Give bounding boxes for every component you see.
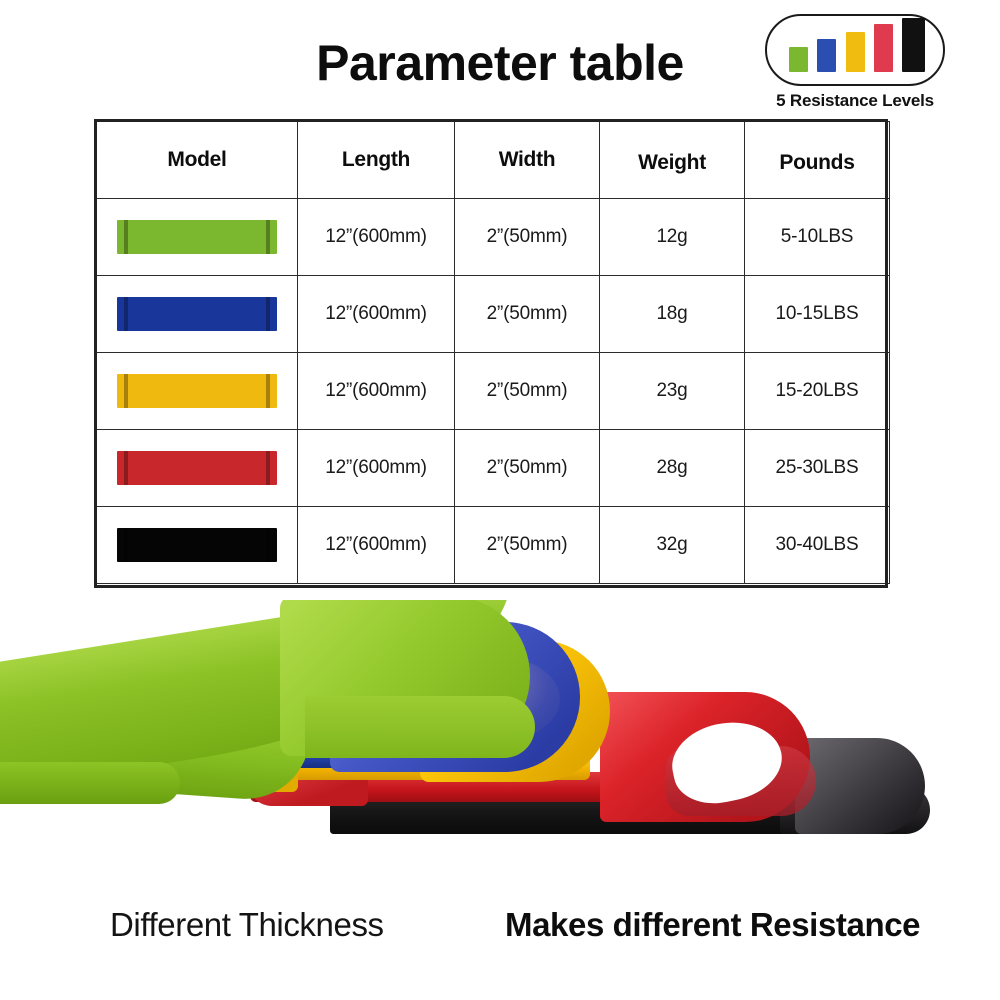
- table-row: 12”(600mm)2”(50mm)23g15-20LBS: [97, 353, 890, 430]
- green-band-arc-inner: [305, 696, 535, 758]
- badge-caption: 5 Resistance Levels: [755, 91, 955, 111]
- header-weight: Weight: [600, 125, 745, 202]
- badge-bar-2: [817, 39, 836, 72]
- red-band-swatch: [117, 451, 277, 485]
- cell-width: 2”(50mm): [455, 353, 600, 430]
- badge-bar-4: [874, 24, 893, 72]
- header-pounds: Pounds: [745, 125, 890, 202]
- header-length: Length: [298, 122, 455, 199]
- cell-pounds: 25-30LBS: [745, 430, 890, 507]
- cell-pounds: 30-40LBS: [745, 507, 890, 584]
- badge-bar-3: [846, 32, 865, 72]
- cell-pounds: 15-20LBS: [745, 353, 890, 430]
- badge-pill-outline: [765, 14, 945, 86]
- cell-width: 2”(50mm): [455, 276, 600, 353]
- cell-length: 12”(600mm): [298, 199, 455, 276]
- cell-weight: 28g: [600, 430, 745, 507]
- cell-weight: 32g: [600, 507, 745, 584]
- cell-pounds: 10-15LBS: [745, 276, 890, 353]
- table-row: 12”(600mm)2”(50mm)12g5-10LBS: [97, 199, 890, 276]
- cell-model: [97, 276, 298, 353]
- header-model: Model: [97, 122, 298, 199]
- badge-bar-chart: [789, 18, 925, 72]
- blue-band-swatch: [117, 297, 277, 331]
- yellow-band-swatch: [117, 374, 277, 408]
- cell-model: [97, 507, 298, 584]
- cell-length: 12”(600mm): [298, 276, 455, 353]
- parameter-table-container: Model Length Width Weight Pounds 12”(600…: [96, 121, 884, 584]
- badge-bar-1: [789, 47, 808, 72]
- table-header: Model Length Width Weight Pounds: [97, 122, 890, 199]
- cell-width: 2”(50mm): [455, 430, 600, 507]
- resistance-levels-badge: 5 Resistance Levels: [755, 14, 955, 111]
- cell-model: [97, 353, 298, 430]
- cell-model: [97, 199, 298, 276]
- cell-width: 2”(50mm): [455, 507, 600, 584]
- resistance-bands-photo: [0, 600, 1000, 890]
- caption-makes-different-resistance: Makes different Resistance: [505, 906, 920, 944]
- green-band-swatch: [117, 220, 277, 254]
- table-row: 12”(600mm)2”(50mm)18g10-15LBS: [97, 276, 890, 353]
- header-width: Width: [455, 122, 600, 199]
- cell-model: [97, 430, 298, 507]
- cell-weight: 12g: [600, 199, 745, 276]
- caption-different-thickness: Different Thickness: [110, 906, 384, 944]
- bottom-captions: Different Thickness Makes different Resi…: [0, 906, 1000, 966]
- table-header-row: Model Length Width Weight Pounds: [97, 122, 890, 199]
- badge-bar-5: [902, 18, 925, 72]
- cell-length: 12”(600mm): [298, 430, 455, 507]
- parameter-table: Model Length Width Weight Pounds 12”(600…: [96, 121, 890, 584]
- cell-weight: 18g: [600, 276, 745, 353]
- table-row: 12”(600mm)2”(50mm)32g30-40LBS: [97, 507, 890, 584]
- table-body: 12”(600mm)2”(50mm)12g5-10LBS12”(600mm)2”…: [97, 199, 890, 584]
- cell-pounds: 5-10LBS: [745, 199, 890, 276]
- black-band-swatch: [117, 528, 277, 562]
- table-row: 12”(600mm)2”(50mm)28g25-30LBS: [97, 430, 890, 507]
- cell-length: 12”(600mm): [298, 507, 455, 584]
- green-band-fold: [0, 762, 180, 804]
- cell-length: 12”(600mm): [298, 353, 455, 430]
- cell-weight: 23g: [600, 353, 745, 430]
- cell-width: 2”(50mm): [455, 199, 600, 276]
